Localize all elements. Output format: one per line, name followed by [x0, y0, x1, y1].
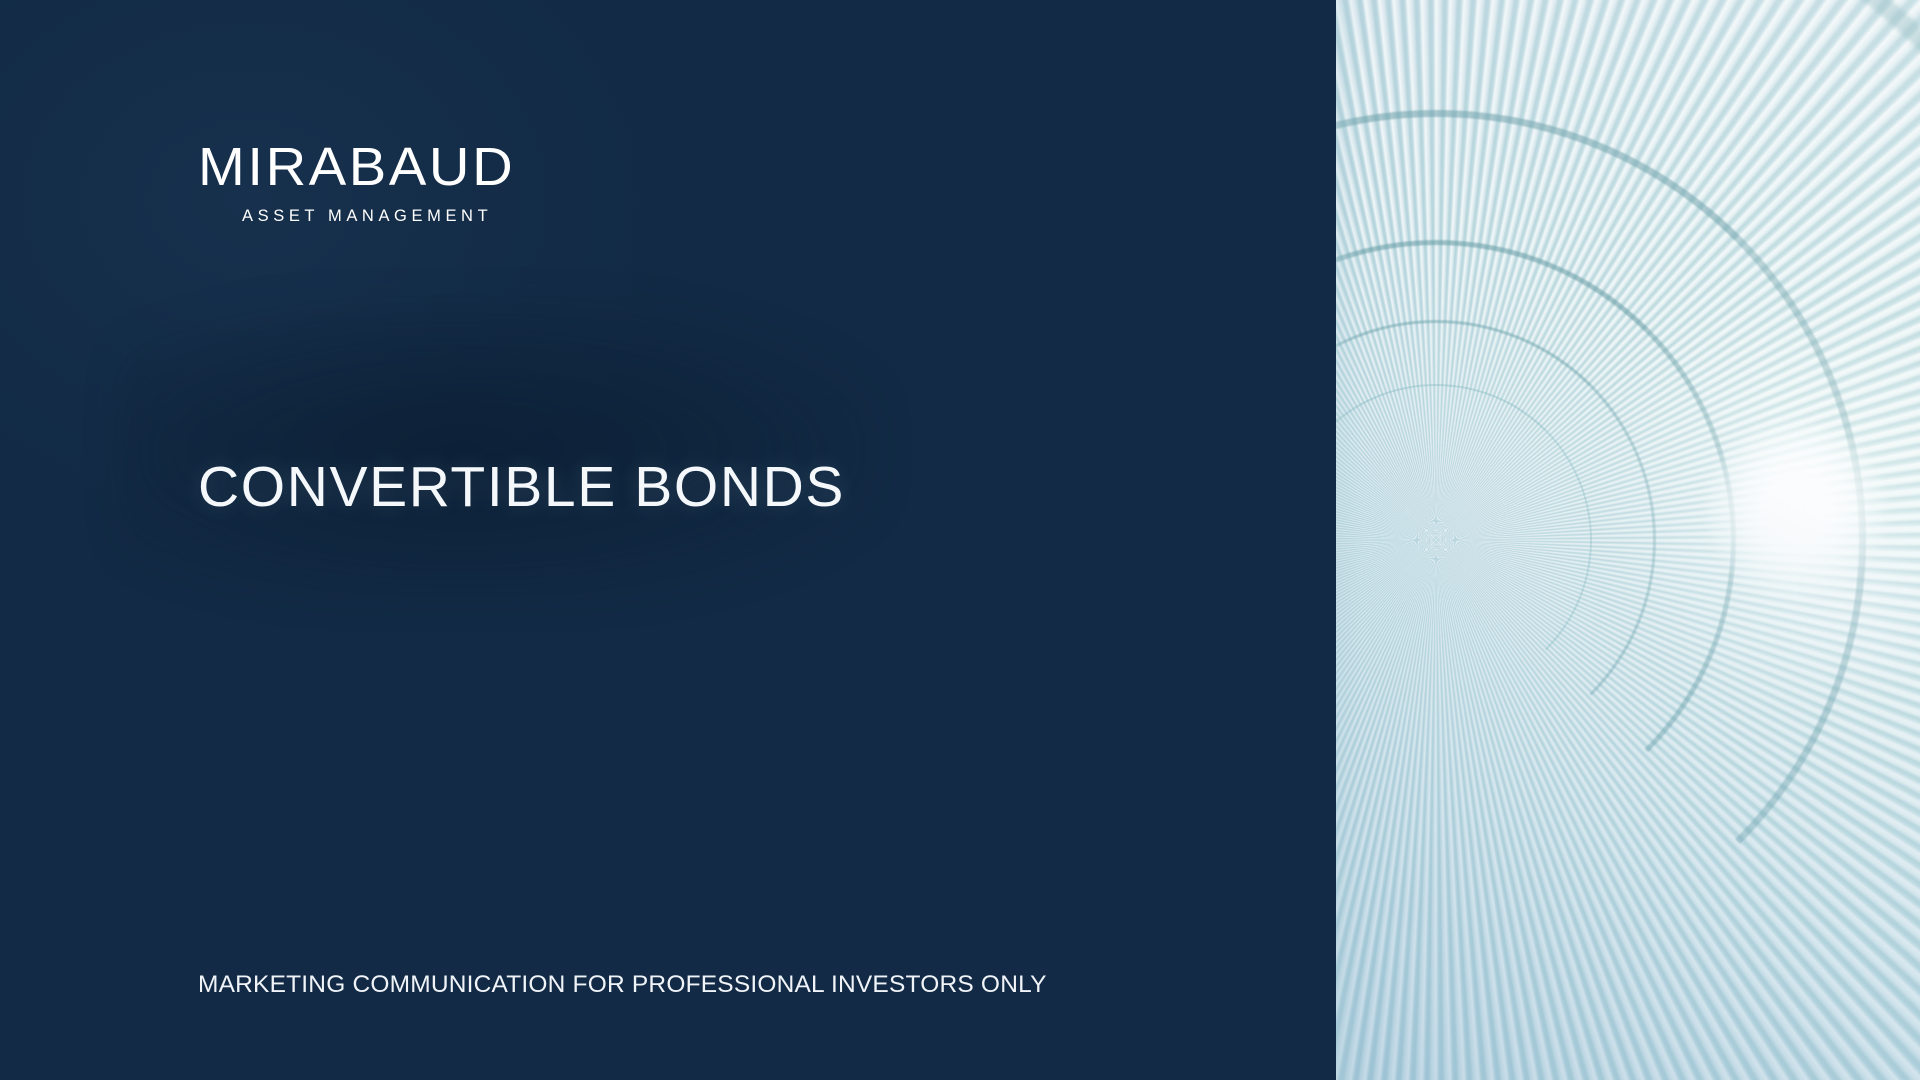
logo-subtitle: ASSET MANAGEMENT: [242, 208, 698, 225]
title-slide: MIRABAUD ASSET MANAGEMENT CONVERTIBLE BO…: [0, 0, 1920, 1080]
page-title: CONVERTIBLE BONDS: [198, 458, 845, 518]
decorative-image-panel: [1336, 0, 1920, 1080]
disclaimer-text: MARKETING COMMUNICATION FOR PROFESSIONAL…: [198, 972, 1047, 999]
brand-logo: MIRABAUD ASSET MANAGEMENT: [198, 140, 698, 225]
title-backdrop-vignette: [120, 300, 880, 600]
logo-wordmark: MIRABAUD: [198, 140, 718, 194]
center-glow-core: [1706, 420, 1886, 600]
left-content-panel: MIRABAUD ASSET MANAGEMENT CONVERTIBLE BO…: [0, 0, 1336, 1080]
